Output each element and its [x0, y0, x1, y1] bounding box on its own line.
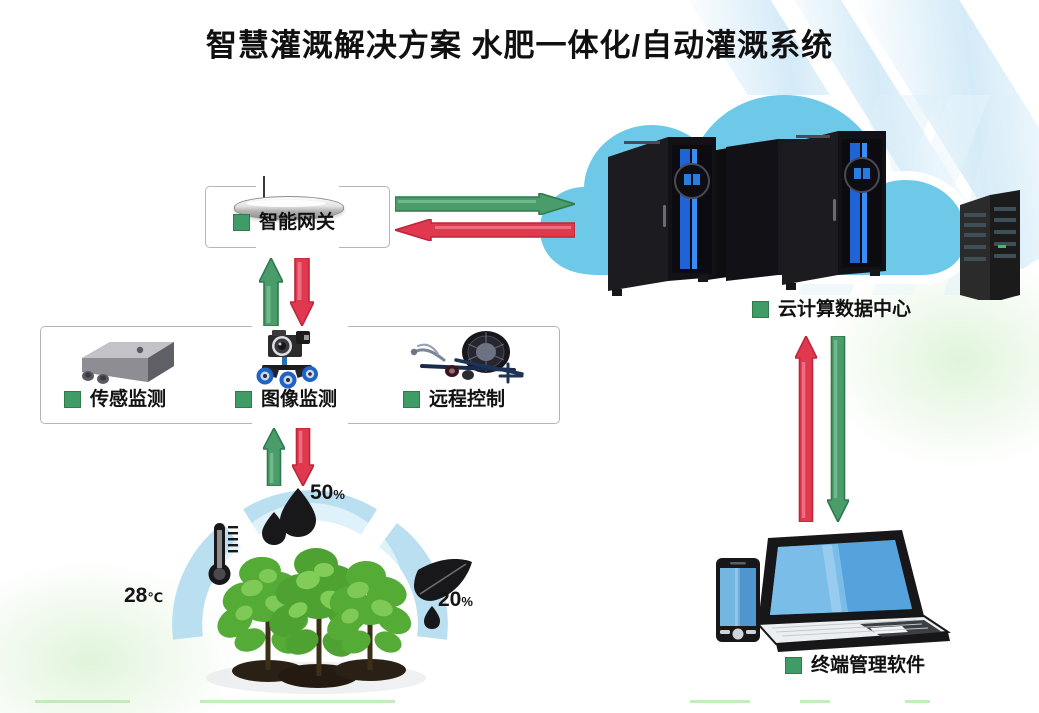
background-band-3 — [690, 700, 750, 703]
panel-corner-tl — [205, 186, 217, 198]
arrow-terminal-to-cloud — [795, 336, 817, 522]
field-item-label-1: 图像监测 — [235, 390, 337, 409]
arrow-sensors-to-gateway — [259, 258, 283, 326]
field-item-label-0: 传感监测 — [64, 390, 166, 409]
terminal-label: 终端管理软件 — [785, 656, 925, 675]
panel-edge-bottom-right — [348, 423, 548, 424]
cloud-datacenter-label: 云计算数据中心 — [752, 300, 911, 319]
background-band-1 — [35, 700, 130, 703]
metric-soil: 20% — [438, 588, 473, 612]
server-rack-main-left — [608, 137, 716, 296]
bullet-square-icon — [64, 391, 81, 408]
field-item-label-2: 远程控制 — [403, 390, 505, 409]
arrow-gateway-to-cloud — [395, 193, 575, 215]
panel-corner-tr — [378, 186, 390, 198]
server-rack-main-right — [782, 131, 886, 290]
camera-dolly-icon — [252, 327, 324, 389]
irrigation-reel-icon — [404, 330, 532, 388]
panel-edge-bottom-left — [217, 247, 256, 248]
cloud-datacenter-icon — [520, 95, 1020, 300]
bullet-square-icon — [785, 657, 802, 674]
bullet-square-icon — [403, 391, 420, 408]
background-band-4 — [800, 700, 830, 703]
gateway-label: 智能网关 — [233, 213, 335, 232]
panel-edge-left — [40, 338, 41, 412]
panel-corner-tl — [40, 326, 52, 338]
panel-edge-right — [389, 198, 390, 236]
panel-edge-bottom-left — [52, 423, 252, 424]
bullet-square-icon — [233, 214, 250, 231]
router-highlight — [246, 200, 326, 207]
sensor-box-icon — [70, 336, 180, 388]
distant-server-racks — [960, 190, 1020, 300]
diagram-canvas: 智慧灌溉解决方案 水肥一体化/自动灌溉系统 — [0, 0, 1039, 713]
panel-edge-right — [559, 338, 560, 412]
panel-edge-top-left — [52, 326, 252, 327]
panel-corner-tr — [548, 326, 560, 338]
laptop-phone-icon — [710, 524, 960, 652]
metric-humidity: 50% — [310, 481, 345, 505]
bullet-square-icon — [235, 391, 252, 408]
panel-edge-left — [205, 198, 206, 236]
cloud-datacenter-group — [520, 95, 1020, 300]
background-band-5 — [905, 700, 930, 703]
bullet-square-icon — [752, 301, 769, 318]
arrow-gateway-to-sensors — [290, 258, 314, 326]
page-title: 智慧灌溉解决方案 水肥一体化/自动灌溉系统 — [0, 20, 1039, 65]
panel-edge-bottom-right — [339, 247, 378, 248]
panel-edge-top-right — [348, 326, 548, 327]
panel-corner-br — [548, 412, 560, 424]
panel-corner-bl — [40, 412, 52, 424]
arrow-cloud-to-terminal — [827, 336, 849, 522]
panel-corner-br — [378, 236, 390, 248]
panel-corner-bl — [205, 236, 217, 248]
arrow-cloud-to-gateway — [395, 219, 575, 241]
metric-temperature: 28℃ — [124, 584, 163, 608]
